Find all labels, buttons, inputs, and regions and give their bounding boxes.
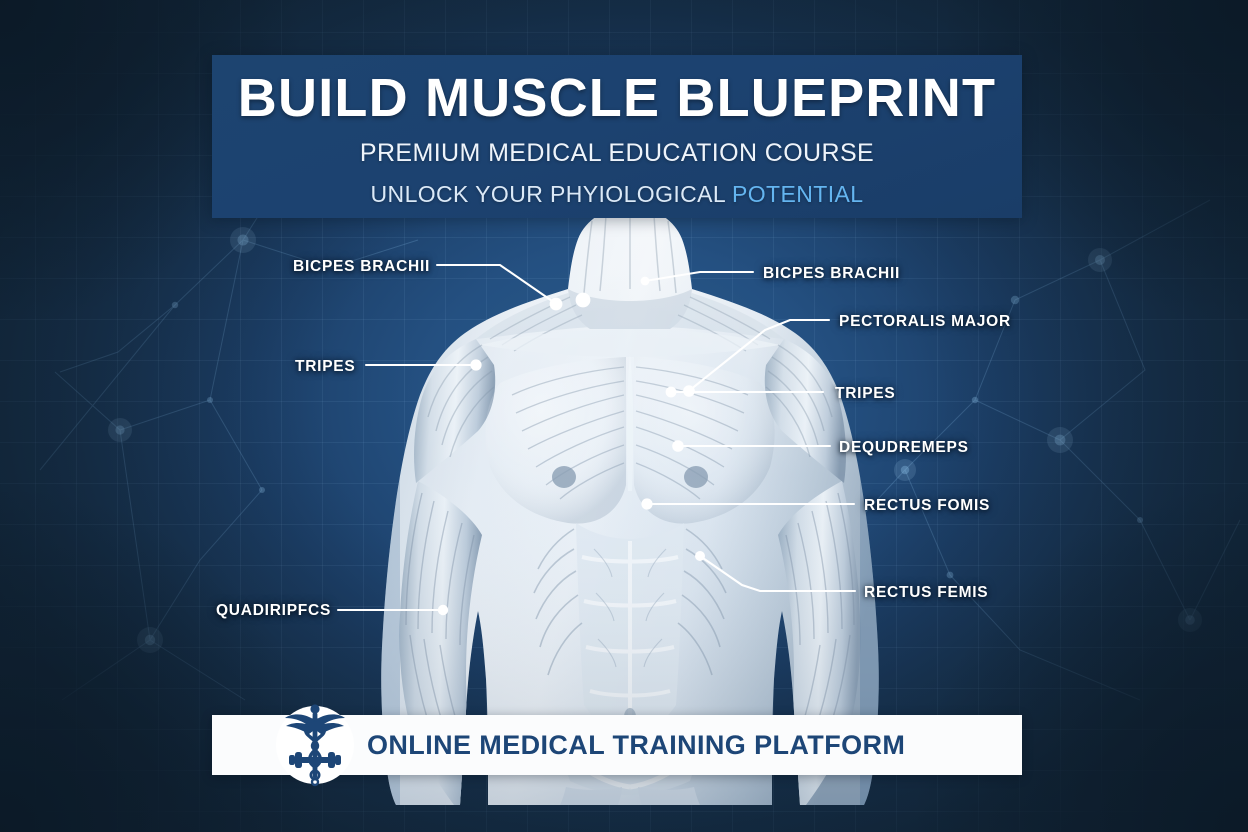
label-tripes-left: TRIPES [295, 358, 355, 376]
tagline-accent: POTENTIAL [732, 181, 863, 207]
corner-shade-bottom-right [918, 492, 1248, 832]
label-dequdremeps: DEQUDREMEPS [839, 439, 969, 457]
page-tagline: UNLOCK YOUR PHYIOLOGICAL POTENTIAL [371, 181, 864, 208]
label-rectus-fomis: RECTUS FOMIS [864, 497, 990, 515]
label-quadiripfcs-left: QUADIRIPFCS [216, 602, 331, 620]
label-bicpes-brachii-right: BICPES BRACHII [763, 265, 900, 283]
poster-canvas: BICPES BRACHII TRIPES QUADIRIPFCS BICPES… [0, 0, 1248, 832]
label-pectoralis-major: PECTORALIS MAJOR [839, 313, 1011, 331]
tagline-prefix: UNLOCK YOUR PHYIOLOGICAL [371, 181, 732, 207]
page-subtitle: PREMIUM MEDICAL EDUCATION COURSE [360, 139, 874, 168]
header-banner: BUILD MUSCLE BLUEPRINT PREMIUM MEDICAL E… [212, 55, 1022, 218]
footer-text: ONLINE MEDICAL TRAINING PLATFORM [367, 730, 905, 761]
caduceus-dumbbell-icon [275, 699, 355, 791]
page-title: BUILD MUSCLE BLUEPRINT [238, 70, 996, 127]
label-tripes-right: TRIPES [835, 385, 895, 403]
label-rectus-femis: RECTUS FEMIS [864, 584, 988, 602]
label-bicpes-brachii-left: BICPES BRACHII [293, 258, 430, 276]
